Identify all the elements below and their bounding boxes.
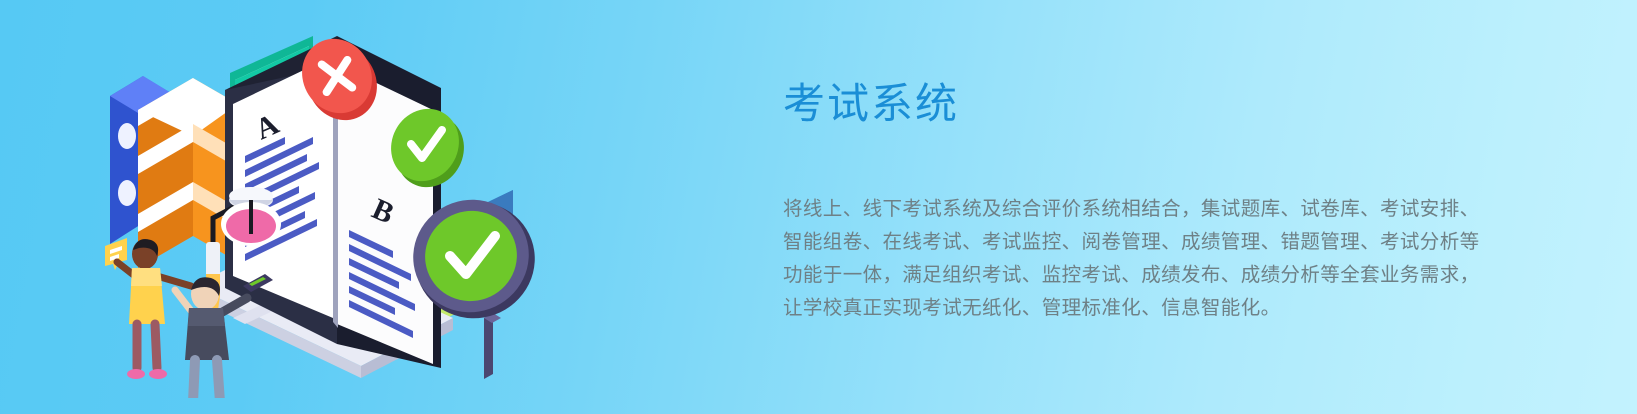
hero-description: 将线上、线下考试系统及综合评价系统相结合，集试题库、试卷库、考试安排、 智能组卷… [783, 193, 1483, 325]
hero-text-block: 考试系统 将线上、线下考试系统及综合评价系统相结合，集试题库、试卷库、考试安排、… [783, 78, 1503, 325]
description-line-3: 功能于一体，满足组织考试、监控考试、成绩发布、成绩分析等全套业务需求， [783, 259, 1483, 292]
description-line-1: 将线上、线下考试系统及综合评价系统相结合，集试题库、试卷库、考试安排、 [783, 193, 1483, 226]
description-line-2: 智能组卷、在线考试、考试监控、阅卷管理、成绩管理、错题管理、考试分析等 [783, 226, 1483, 259]
books-icon [110, 76, 238, 268]
person-woman [105, 238, 191, 379]
description-line-4: 让学校真正实现考试无纸化、管理标准化、信息智能化。 [783, 292, 1483, 325]
page-title: 考试系统 [783, 78, 1503, 131]
hero-banner: A B [0, 0, 1637, 414]
exam-system-illustration: A B [75, 18, 635, 398]
